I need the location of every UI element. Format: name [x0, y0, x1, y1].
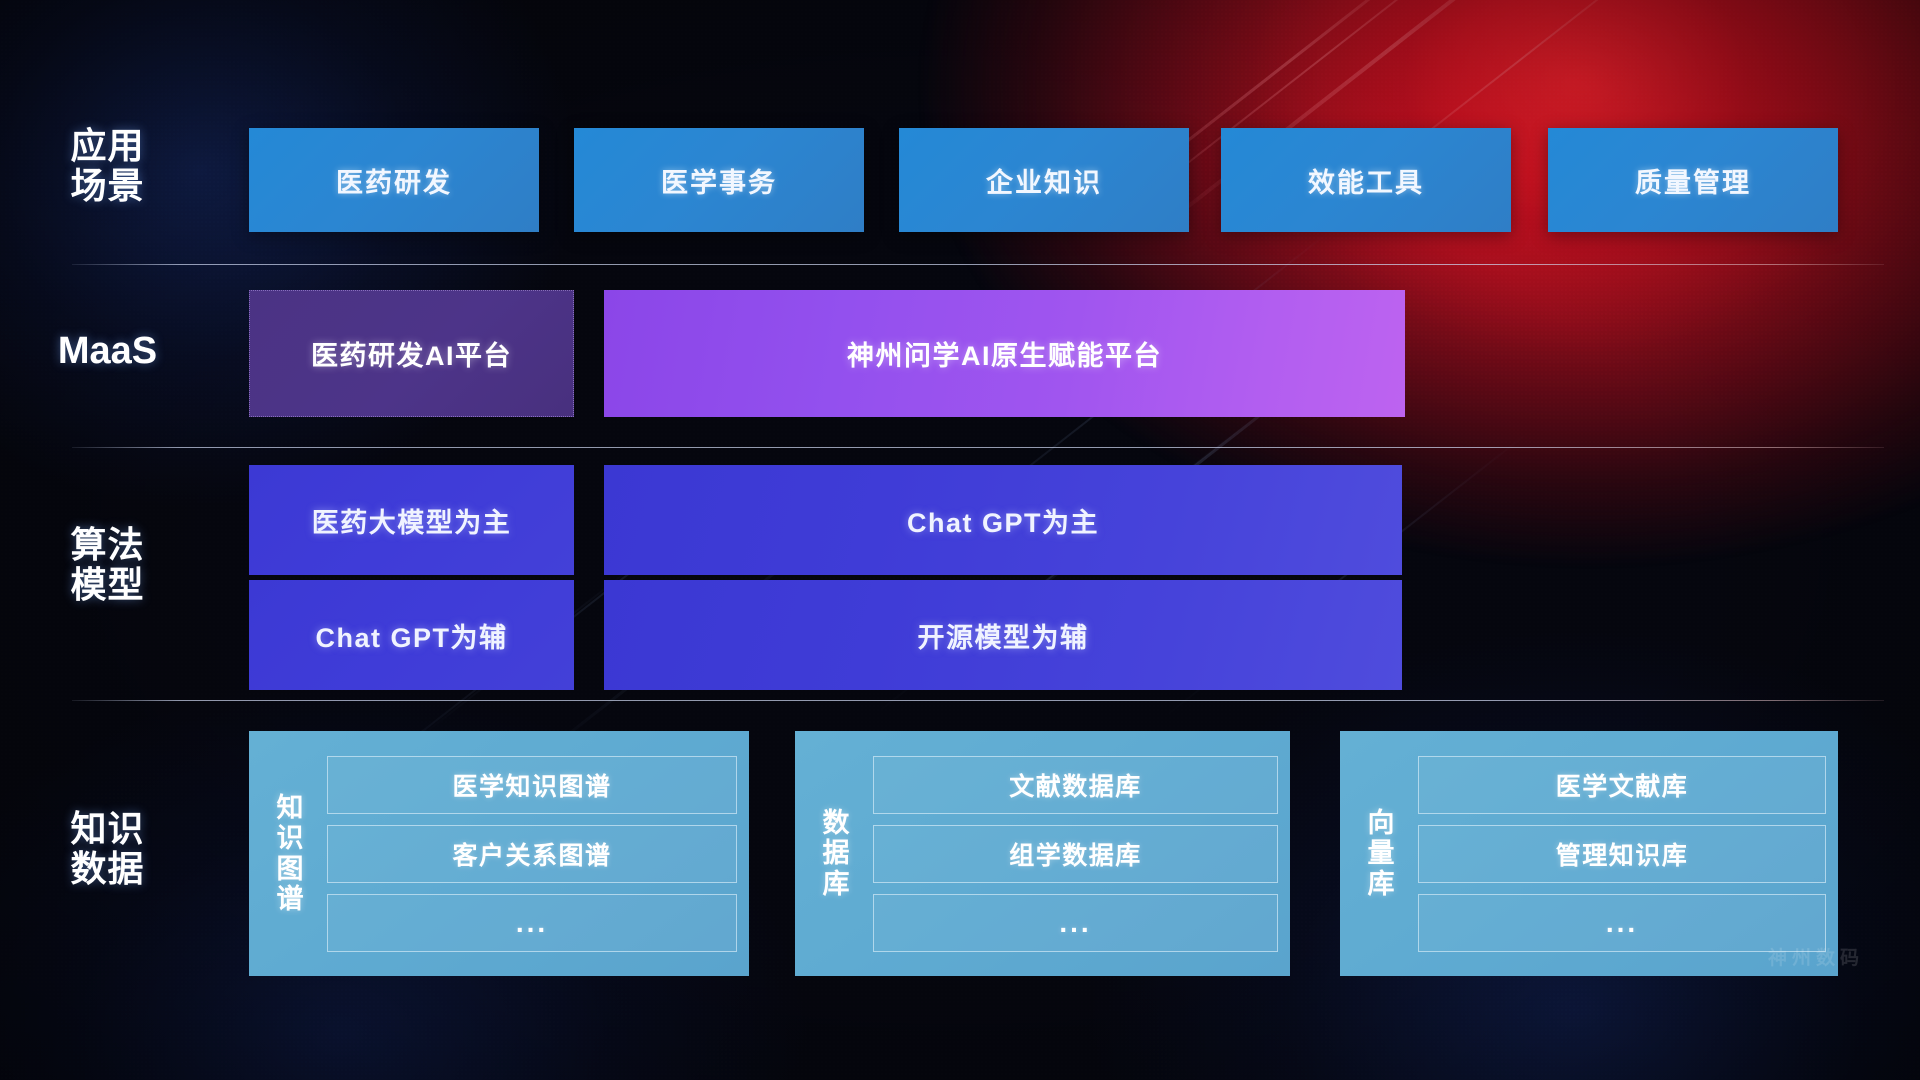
algo-label: Chat GPT为主: [907, 501, 1099, 540]
maas-right-label: 神州问学AI原生赋能平台: [847, 334, 1162, 373]
knowledge-item-label: 客户关系图谱: [452, 836, 611, 872]
knowledge-item[interactable]: 管理知识库: [1418, 825, 1826, 883]
knowledge-item-label: ...: [1059, 907, 1091, 939]
knowledge-item-list: 医学知识图谱 客户关系图谱 ...: [327, 741, 737, 966]
watermark: 神州数码: [1768, 943, 1864, 970]
app-scenario-card-3[interactable]: 企业知识: [899, 128, 1189, 232]
knowledge-group-label: 数据库: [805, 741, 867, 966]
app-scenario-label: 效能工具: [1308, 161, 1424, 200]
row-label-line: MaaS: [0, 330, 215, 373]
knowledge-group-graph[interactable]: 知识图谱 医学知识图谱 客户关系图谱 ...: [249, 731, 749, 976]
row-algorithm: 算法 模型 医药大模型为主 Chat GPT为主 Chat GPT为辅 开源模型…: [0, 455, 1920, 690]
app-scenario-card-2[interactable]: 医学事务: [574, 128, 864, 232]
row-label-line: 模型: [0, 565, 215, 605]
app-scenario-card-5[interactable]: 质量管理: [1548, 128, 1838, 232]
algo-label: 医药大模型为主: [312, 501, 512, 540]
row-application: 应用 场景 医药研发 医学事务 企业知识 效能工具 质量管理: [0, 128, 1920, 232]
row-label-line: 知识: [0, 809, 215, 849]
knowledge-item-label: 医学知识图谱: [452, 767, 611, 803]
knowledge-item-label: 组学数据库: [1009, 836, 1142, 872]
row-label-maas: MaaS: [0, 330, 215, 373]
knowledge-item[interactable]: 组学数据库: [873, 825, 1278, 883]
maas-left-label: 医药研发AI平台: [311, 334, 512, 373]
knowledge-item-label: ...: [516, 907, 548, 939]
knowledge-item[interactable]: 医学知识图谱: [327, 756, 737, 814]
divider-2: [72, 447, 1884, 448]
app-scenario-label: 质量管理: [1635, 161, 1751, 200]
row-label-line: 数据: [0, 849, 215, 889]
row-label-application: 应用 场景: [0, 126, 215, 207]
algo-card-right-2[interactable]: 开源模型为辅: [604, 580, 1402, 690]
knowledge-item-label: 管理知识库: [1556, 836, 1689, 872]
algo-label: Chat GPT为辅: [315, 616, 507, 655]
app-scenario-label: 医药研发: [336, 161, 452, 200]
row-label-line: 场景: [0, 166, 215, 206]
app-scenario-label: 医学事务: [661, 161, 777, 200]
row-maas: MaaS 医药研发AI平台 神州问学AI原生赋能平台: [0, 290, 1920, 417]
maas-platform-pharma[interactable]: 医药研发AI平台: [249, 290, 574, 417]
row-knowledge: 知识 数据 知识图谱 医学知识图谱 客户关系图谱 ... 数据库 文献数: [0, 731, 1920, 976]
row-label-algorithm: 算法 模型: [0, 525, 215, 606]
algo-label: 开源模型为辅: [918, 616, 1089, 655]
knowledge-item-list: 医学文献库 管理知识库 ...: [1418, 741, 1826, 966]
knowledge-item-more[interactable]: ...: [327, 894, 737, 952]
algo-card-left-1[interactable]: 医药大模型为主: [249, 465, 574, 575]
knowledge-item-label: 文献数据库: [1009, 767, 1142, 803]
app-scenario-label: 企业知识: [986, 161, 1102, 200]
knowledge-group-database[interactable]: 数据库 文献数据库 组学数据库 ...: [795, 731, 1290, 976]
knowledge-item-more[interactable]: ...: [873, 894, 1278, 952]
knowledge-group-label: 向量库: [1350, 741, 1412, 966]
app-scenario-card-1[interactable]: 医药研发: [249, 128, 539, 232]
algo-card-right-1[interactable]: Chat GPT为主: [604, 465, 1402, 575]
architecture-diagram: 应用 场景 医药研发 医学事务 企业知识 效能工具 质量管理 MaaS 医药研发…: [0, 0, 1920, 1080]
knowledge-item-label: ...: [1606, 907, 1638, 939]
row-label-line: 应用: [0, 126, 215, 166]
algo-card-left-2[interactable]: Chat GPT为辅: [249, 580, 574, 690]
knowledge-group-label: 知识图谱: [259, 741, 321, 966]
row-label-knowledge: 知识 数据: [0, 809, 215, 890]
knowledge-item-more[interactable]: ...: [1418, 894, 1826, 952]
divider-1: [72, 264, 1884, 265]
knowledge-item-list: 文献数据库 组学数据库 ...: [873, 741, 1278, 966]
knowledge-item[interactable]: 文献数据库: [873, 756, 1278, 814]
row-label-line: 算法: [0, 525, 215, 565]
knowledge-item[interactable]: 客户关系图谱: [327, 825, 737, 883]
knowledge-group-vector[interactable]: 向量库 医学文献库 管理知识库 ...: [1340, 731, 1838, 976]
knowledge-item-label: 医学文献库: [1556, 767, 1689, 803]
divider-3: [72, 700, 1884, 701]
app-scenario-card-4[interactable]: 效能工具: [1221, 128, 1511, 232]
knowledge-item[interactable]: 医学文献库: [1418, 756, 1826, 814]
maas-platform-shenzhou[interactable]: 神州问学AI原生赋能平台: [604, 290, 1405, 417]
